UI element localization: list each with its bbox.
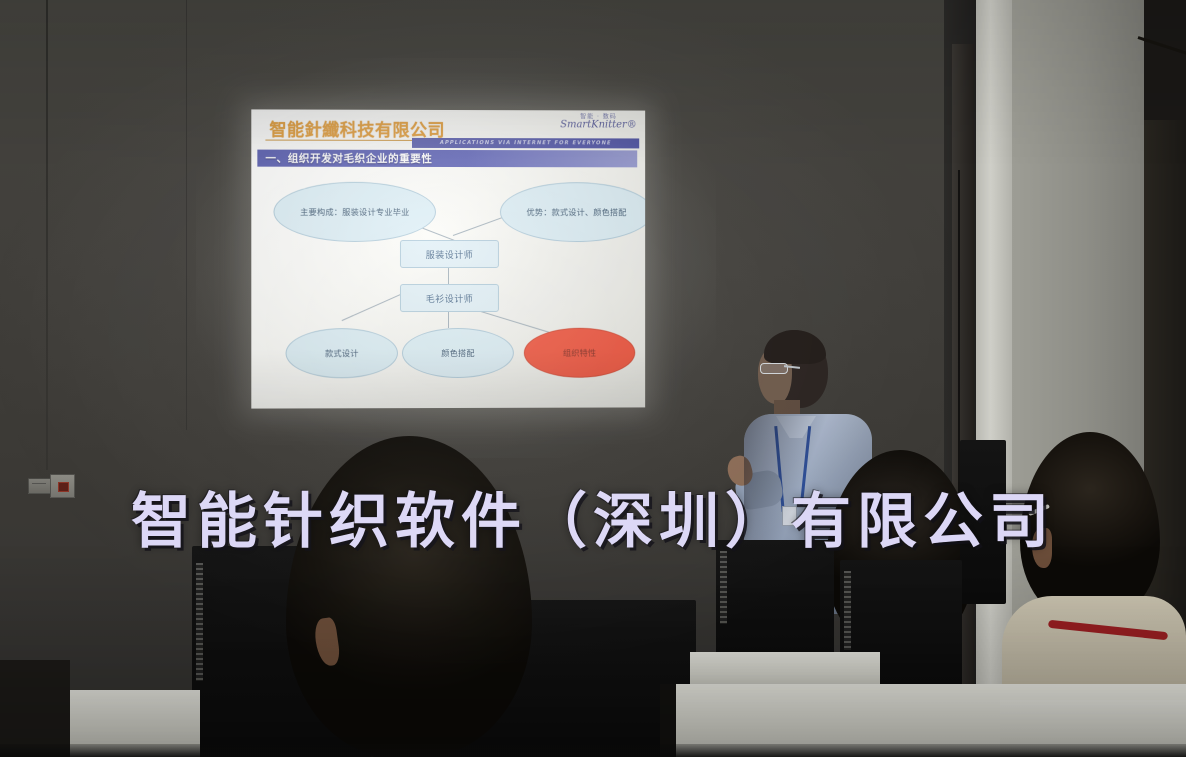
connector-lower-to-color (448, 310, 449, 328)
audience-right-ear (1032, 528, 1052, 568)
slide-tagline: APPLICATIONS VIA INTERNET FOR EVERYONE (412, 138, 639, 149)
wall-switch-plate (28, 478, 51, 494)
node-structure-characteristics: 组织特性 (524, 328, 635, 378)
switch-rocker (32, 483, 46, 484)
node-advantages: 优势：款式设计、颜色搭配 (500, 182, 645, 242)
desk-far-right (1000, 700, 1186, 757)
smartknitter-logo: 智能 · 数码 SmartKnitter® (558, 114, 639, 131)
wall-seam (46, 0, 48, 470)
wall-seam-secondary (186, 0, 187, 430)
node-main-composition: 主要构成：服装设计专业毕业 (273, 182, 436, 242)
node-sweater-designer: 毛衫设计师 (400, 284, 499, 312)
presentation-room-photo: 智能針纖科技有限公司 智能 · 数码 SmartKnitter® APPLICA… (0, 0, 1186, 757)
org-diagram: 主要构成：服装设计专业毕业 优势：款式设计、颜色搭配 服装设计师 毛衫设计师 款… (251, 168, 645, 409)
right-upper-shadow (1144, 0, 1186, 120)
slide-surface: 智能針纖科技有限公司 智能 · 数码 SmartKnitter® APPLICA… (251, 109, 645, 408)
node-color-matching: 颜色搭配 (402, 328, 514, 378)
node-apparel-designer: 服装设计师 (400, 240, 499, 268)
monitor-far-right (960, 440, 1006, 604)
node-style-design: 款式设计 (286, 328, 398, 378)
monitor-vent (844, 571, 851, 649)
wall-outlet-plate (50, 474, 75, 498)
foreground-shadow-left (0, 660, 70, 757)
monitor-vent (196, 563, 203, 681)
desk-left (64, 690, 200, 757)
outlet-indicator-icon (58, 482, 69, 492)
logo-english-text: SmartKnitter® (558, 121, 639, 132)
id-badge (782, 506, 797, 526)
projection-screen: 智能針纖科技有限公司 智能 · 数码 SmartKnitter® APPLICA… (251, 109, 645, 408)
monitor-vent (720, 551, 727, 625)
slide-section-banner: 一、组织开发对毛织企业的重要性 (257, 150, 637, 168)
desk-row-middle (690, 652, 880, 688)
slide-section-heading: 一、组织开发对毛织企业的重要性 (265, 151, 432, 166)
presenter-hair (764, 330, 826, 364)
